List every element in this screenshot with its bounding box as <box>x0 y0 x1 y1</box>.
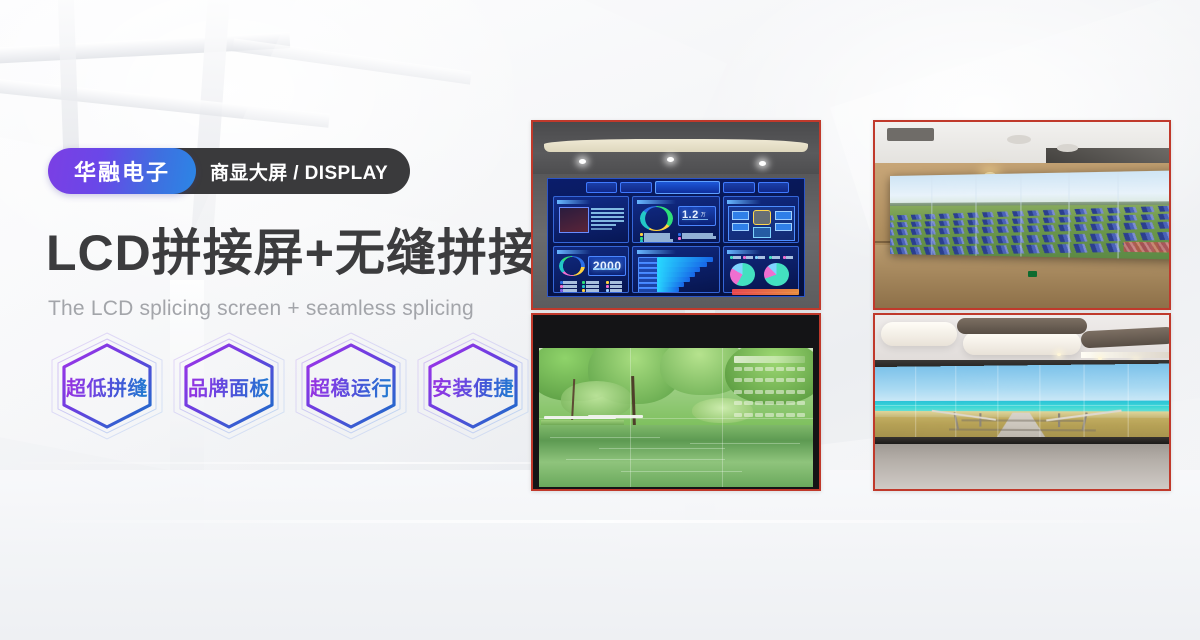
calendar-header-row <box>734 367 805 371</box>
calendar-cell <box>744 378 752 382</box>
bezel-seam <box>1117 172 1118 259</box>
calendar-cell <box>786 390 794 394</box>
page-subtitle: The LCD splicing screen + seamless splic… <box>48 297 474 321</box>
calendar-title <box>734 356 805 363</box>
feature-label: 超低拼缝 <box>66 372 148 401</box>
dashboard-card-flow <box>723 196 799 243</box>
legend-text <box>772 256 779 259</box>
legend-dot <box>582 281 585 284</box>
calendar-cell <box>797 390 805 394</box>
text-line <box>591 228 612 230</box>
bezel-seam <box>975 174 976 255</box>
dashboard-card-pies <box>723 246 799 293</box>
flow-node <box>753 210 771 226</box>
photo-content: 1.2 万 <box>533 122 819 308</box>
ceiling-cove <box>544 139 807 152</box>
brand-name-pill: 华融电子 <box>48 148 196 194</box>
photo-content <box>533 315 819 489</box>
bg-beam-1 <box>0 32 290 64</box>
kpi-unit: 万 <box>701 211 707 218</box>
ceiling-light-panel <box>881 322 957 346</box>
kpi-caption <box>682 219 708 221</box>
legend-text <box>586 289 599 292</box>
ceiling-vent <box>887 128 934 141</box>
feature-item-1[interactable]: 品牌面板 <box>170 330 288 442</box>
water-ripple <box>566 459 725 460</box>
calendar-cell <box>776 378 784 382</box>
text-line <box>591 212 624 214</box>
flow-node <box>732 211 749 220</box>
calendar-cell <box>776 367 784 371</box>
calendar-cell <box>786 413 794 417</box>
legend-text <box>682 236 716 239</box>
photo-content <box>875 315 1169 489</box>
calendar-cell <box>786 367 794 371</box>
calendar-week-row <box>734 390 805 394</box>
calendar-cell <box>734 401 742 405</box>
legend-text <box>586 281 599 284</box>
calendar-cell <box>755 401 763 405</box>
calendar-week-row <box>734 401 805 405</box>
text-line <box>591 220 624 222</box>
calendar-cell <box>755 413 763 417</box>
bg-beam-4 <box>57 0 79 150</box>
gallery-photo-solar-wall[interactable] <box>873 120 1171 310</box>
feature-list: 超低拼缝 品牌面板 超稳运行 安装便捷 <box>48 330 532 442</box>
flow-node <box>753 227 771 238</box>
legend-dot <box>606 289 609 292</box>
legend-dot <box>582 285 585 288</box>
flow-node <box>732 223 749 231</box>
dashboard-card-kpi: 1.2 万 <box>632 196 719 243</box>
calendar-cell <box>797 367 805 371</box>
flow-node <box>775 223 792 231</box>
calendar-cell <box>776 413 784 417</box>
feature-label: 超稳运行 <box>310 372 392 401</box>
calendar-cell <box>765 367 773 371</box>
legend-text <box>563 289 576 292</box>
calendar-cell <box>755 367 763 371</box>
bg-beam-2 <box>191 0 231 240</box>
legend-text <box>746 256 753 259</box>
dashboard-card-intro <box>553 196 629 243</box>
bezel-seam <box>1020 173 1021 256</box>
calendar-cell <box>797 378 805 382</box>
gallery-photo-control-room[interactable]: 1.2 万 <box>531 120 821 310</box>
calendar-cell <box>734 378 742 382</box>
bar <box>657 287 679 292</box>
video-thumb <box>559 207 589 232</box>
kpi-caption <box>593 268 618 270</box>
dashboard-screen: 1.2 万 <box>547 178 804 297</box>
ceiling-light-panel <box>963 332 1081 355</box>
calendar-week-row <box>734 378 805 382</box>
calendar-cell <box>744 390 752 394</box>
legend-text <box>563 281 576 284</box>
water-ripple <box>621 471 742 472</box>
video-wall-screen <box>539 348 814 487</box>
dashboard-card-count: 2000 <box>553 246 629 293</box>
calendar-cell <box>755 390 763 394</box>
legend-dot <box>560 289 563 292</box>
legend-text <box>786 256 793 259</box>
pie-chart-right <box>764 263 789 286</box>
calendar-cell <box>786 401 794 405</box>
calendar-cell <box>765 413 773 417</box>
screen-base <box>875 437 1169 444</box>
dashboard-topbar <box>553 181 798 194</box>
bezel-seam <box>931 175 932 255</box>
legend-text <box>610 285 622 288</box>
bg-floor <box>0 470 1200 640</box>
feature-item-3[interactable]: 安装便捷 <box>414 330 532 442</box>
legend-dot <box>606 281 609 284</box>
calendar-cell <box>765 378 773 382</box>
lake-water <box>539 425 814 488</box>
calendar-cell <box>734 367 742 371</box>
bg-beam-5 <box>232 38 471 84</box>
ceiling-speaker <box>1057 144 1078 151</box>
pie-chart-left <box>730 263 755 286</box>
legend-dot <box>606 285 609 288</box>
legend-text <box>610 289 622 292</box>
dashboard-title-chip <box>655 181 721 194</box>
timestamp-chip <box>553 183 582 192</box>
nav-chip-4 <box>758 182 789 193</box>
feature-label: 安装便捷 <box>432 372 514 401</box>
feature-item-0[interactable]: 超低拼缝 <box>48 330 166 442</box>
legend-dot <box>582 289 585 292</box>
calendar-cell <box>744 401 752 405</box>
ceiling-light-strip <box>1081 352 1169 359</box>
red-roof-buildings <box>1123 241 1169 252</box>
dashboard-card-barchart <box>632 246 719 293</box>
ceiling-soffit <box>957 318 1086 334</box>
bezel-seam <box>1068 172 1069 257</box>
calendar-cell <box>744 413 752 417</box>
calendar-week-row <box>734 413 805 417</box>
calendar-cell <box>734 413 742 417</box>
nav-chip-3 <box>723 182 754 193</box>
calendar-cell <box>797 413 805 417</box>
dashboard-grid: 1.2 万 <box>553 196 798 293</box>
calendar-cell <box>744 367 752 371</box>
legend-text <box>733 256 740 259</box>
calendar-cell <box>776 390 784 394</box>
legend-dot <box>640 233 643 236</box>
flow-node <box>775 211 792 220</box>
text-line <box>591 216 624 218</box>
feature-item-2[interactable]: 超稳运行 <box>292 330 410 442</box>
text-line <box>591 208 624 210</box>
photo-content <box>875 122 1169 308</box>
bg-beam-3 <box>0 76 330 128</box>
legend-text <box>586 285 599 288</box>
water-ripple <box>550 437 660 438</box>
legend-text <box>563 285 576 288</box>
page-title: LCD拼接屏+无缝拼接 <box>46 228 539 278</box>
sky <box>875 364 1169 404</box>
calendar-cell <box>797 401 805 405</box>
banner-root: 华融电子 商显大屏 / DISPLAY LCD拼接屏+无缝拼接 The LCD … <box>0 0 1200 640</box>
bezel-seam <box>539 418 814 419</box>
legend-dot <box>678 233 681 236</box>
kpi-secondary-value: 2000 <box>593 259 622 273</box>
calendar-cell <box>734 390 742 394</box>
gallery-photo-nature-wall[interactable] <box>531 313 821 491</box>
calendar-cell <box>776 401 784 405</box>
water-ripple <box>690 443 800 444</box>
calendar-cell <box>786 378 794 382</box>
legend-dot <box>678 237 681 240</box>
video-wall-screen <box>890 170 1169 259</box>
donut-chart <box>559 256 586 277</box>
nav-chip-2 <box>620 182 651 193</box>
legend-dot <box>560 281 563 284</box>
text-line <box>591 224 616 226</box>
legend-text <box>758 256 765 259</box>
water-ripple <box>599 448 725 449</box>
brand-badge-group: 华融电子 商显大屏 / DISPLAY <box>48 148 410 194</box>
dashboard-ticker <box>732 289 798 295</box>
calendar-cell <box>755 378 763 382</box>
feature-label: 品牌面板 <box>188 372 270 401</box>
downlight-3 <box>759 161 766 166</box>
calendar-cell <box>765 401 773 405</box>
bar-label <box>638 287 659 293</box>
railing-post <box>1058 414 1060 427</box>
gallery-photo-beach-wall[interactable] <box>873 313 1171 491</box>
downlight-1 <box>579 159 586 164</box>
calendar-cell <box>765 390 773 394</box>
legend-dot <box>560 285 563 288</box>
exit-sign-icon <box>1028 271 1037 277</box>
legend-dot <box>640 240 643 243</box>
legend-text <box>610 281 622 284</box>
nav-chip-1 <box>586 182 617 193</box>
legend-text <box>644 239 673 242</box>
lobby-floor <box>875 440 1169 489</box>
bg-floor-line <box>0 520 1200 523</box>
donut-chart <box>640 206 672 230</box>
